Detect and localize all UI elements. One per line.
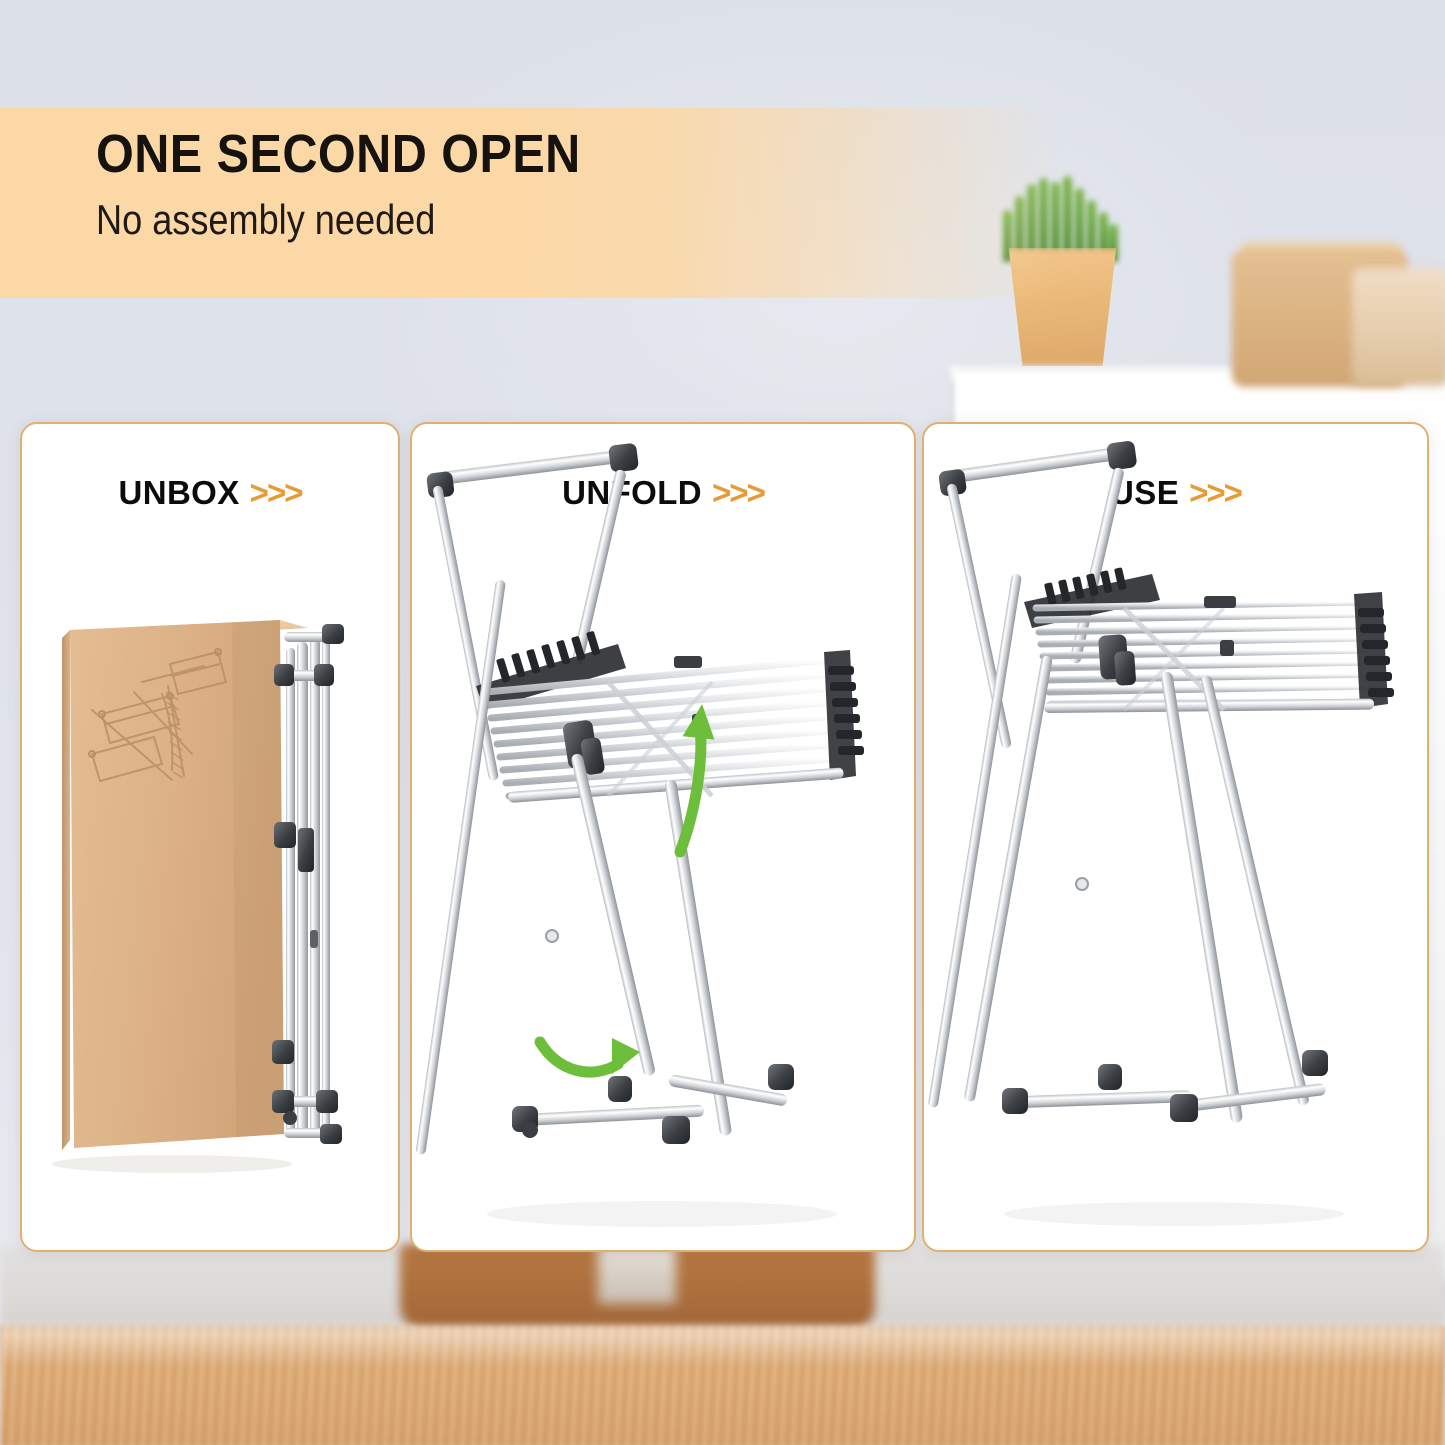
- artwork-folded-rack-in-carton: [22, 424, 398, 1250]
- step-cards: UNBOX>>>: [0, 0, 1445, 1445]
- card-unbox[interactable]: UNBOX>>>: [20, 422, 400, 1252]
- card-use[interactable]: USE>>>: [922, 422, 1429, 1252]
- arrow-right-green-icon: [540, 1038, 640, 1074]
- artwork-rack-fully-open: [924, 424, 1427, 1250]
- card-unfold[interactable]: UNFOLD>>>: [410, 422, 916, 1252]
- artwork-rack-mid-unfold: [412, 424, 914, 1250]
